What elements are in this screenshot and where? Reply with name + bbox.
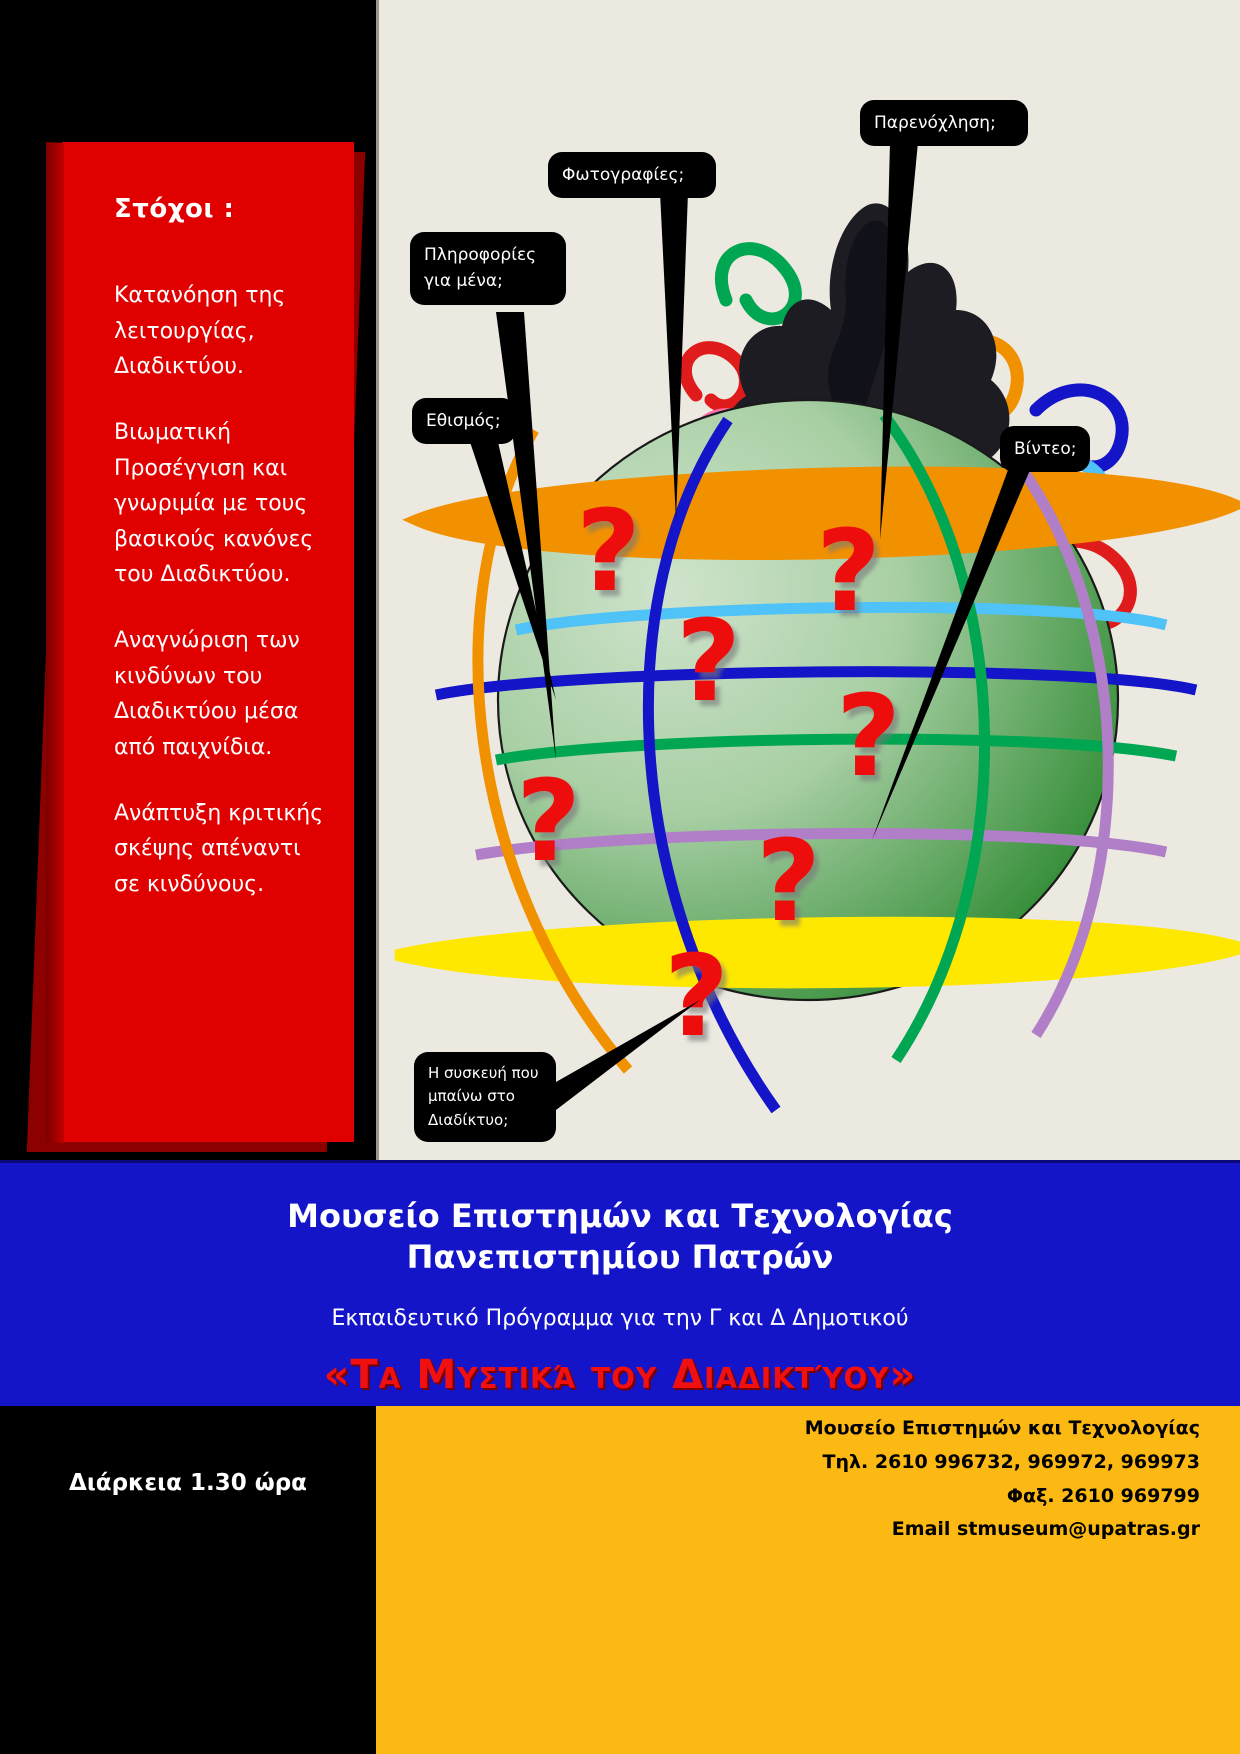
museum-title-line2: Πανεπιστημίου Πατρών: [0, 1237, 1240, 1278]
bubble-photos-text: Φωτογραφίες;: [562, 165, 684, 185]
bubble-addiction[interactable]: Εθισμός;: [412, 398, 516, 444]
contact-block: Μουσείο Επιστημών και Τεχνολογίας Τηλ. 2…: [520, 1412, 1200, 1547]
bubble-photos[interactable]: Φωτογραφίες;: [548, 152, 716, 198]
contact-name: Μουσείο Επιστημών και Τεχνολογίας: [520, 1412, 1200, 1446]
program-main-title: «Τα Μυστικά του Διαδικτύου»: [0, 1352, 1240, 1398]
contact-email[interactable]: Email stmuseum@upatras.gr: [520, 1513, 1200, 1547]
bottom-black-strip: [0, 1406, 376, 1754]
contact-phone: Τηλ. 2610 996732, 969972, 969973: [520, 1446, 1200, 1480]
pointer-device: [556, 1000, 700, 1110]
pointer-harassment: [880, 142, 918, 540]
duration-label: Διάρκεια 1.30 ώρα: [0, 1470, 376, 1496]
bubble-harassment-text: Παρενόχληση;: [874, 113, 996, 133]
program-subtitle: Εκπαιδευτικό Πρόγραμμα για την Γ και Δ Δ…: [0, 1306, 1240, 1331]
museum-title-line1: Μουσείο Επιστημών και Τεχνολογίας: [0, 1196, 1240, 1237]
contact-fax: Φαξ. 2610 969799: [520, 1480, 1200, 1514]
bubble-video[interactable]: Βίντεο;: [1000, 426, 1090, 472]
bubble-info-text: Πληροφορίες για μένα;: [424, 245, 536, 291]
bubble-device[interactable]: Η συσκευή που μπαίνω στο Διαδίκτυο;: [414, 1052, 556, 1142]
bubble-video-text: Βίντεο;: [1014, 439, 1076, 459]
poster-root: ? ? ? ? ? ? ? Στόχοι : Κατανόηση της λει…: [0, 0, 1240, 1754]
pointer-video: [872, 470, 1030, 840]
museum-title: Μουσείο Επιστημών και Τεχνολογίας Πανεπι…: [0, 1196, 1240, 1278]
bubble-addiction-text: Εθισμός;: [426, 411, 501, 431]
bubble-device-text: Η συσκευή που μπαίνω στο Διαδίκτυο;: [428, 1064, 539, 1129]
footer-top-rule: [0, 1160, 1240, 1163]
pointer-photos: [660, 192, 688, 520]
bubble-harassment[interactable]: Παρενόχληση;: [860, 100, 1028, 146]
bubble-info[interactable]: Πληροφορίες για μένα;: [410, 232, 566, 305]
